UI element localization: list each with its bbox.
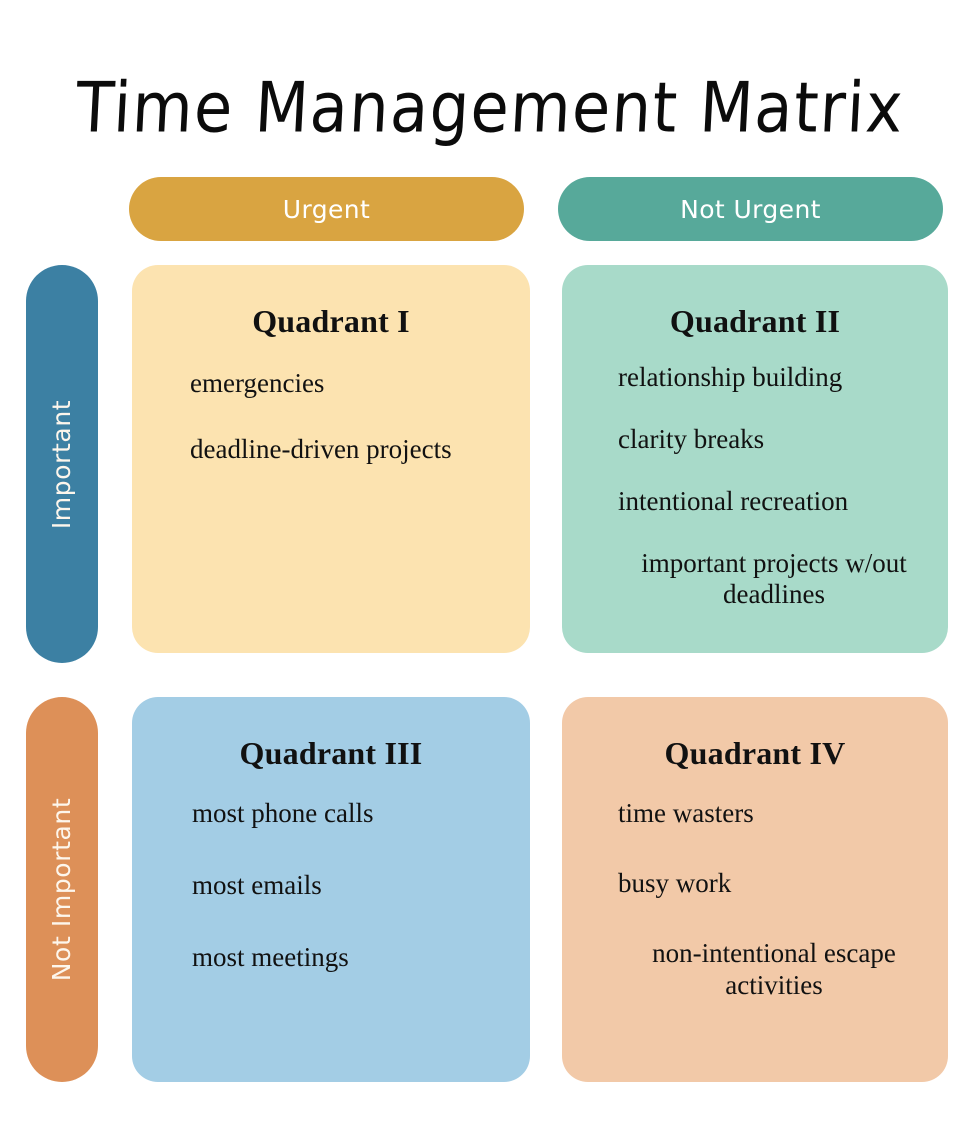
column-header-urgent-label: Urgent: [283, 195, 370, 224]
quadrant-3-item-list: most phone calls most emails most meetin…: [150, 772, 512, 974]
list-item: non-intentional escape activities: [618, 938, 930, 1002]
list-item: time wasters: [618, 798, 930, 830]
quadrant-1-card: Quadrant I emergencies deadline-driven p…: [132, 265, 530, 653]
list-item: busy work: [618, 868, 930, 900]
list-item: deadline-driven projects: [190, 434, 512, 466]
row-header-important: Important: [26, 265, 98, 663]
column-header-urgent: Urgent: [129, 177, 524, 241]
list-item: intentional recreation: [618, 486, 930, 518]
matrix-canvas: Time Management Matrix Urgent Not Urgent…: [0, 0, 980, 1136]
list-item: clarity breaks: [618, 424, 930, 456]
page-title: Time Management Matrix: [0, 63, 980, 153]
quadrant-4-item-list: time wasters busy work non-intentional e…: [580, 772, 930, 1001]
quadrant-3-card: Quadrant III most phone calls most email…: [132, 697, 530, 1082]
column-header-not-urgent-label: Not Urgent: [680, 195, 821, 224]
list-item: emergencies: [190, 368, 512, 400]
quadrant-2-card: Quadrant II relationship building clarit…: [562, 265, 948, 653]
list-item: most phone calls: [192, 798, 512, 830]
row-header-not-important: Not Important: [26, 697, 98, 1082]
list-item: important projects w/out deadlines: [618, 548, 930, 612]
quadrant-2-title: Quadrant II: [580, 265, 930, 340]
quadrant-1-title: Quadrant I: [150, 265, 512, 340]
list-item: most meetings: [192, 942, 512, 974]
quadrant-3-title: Quadrant III: [150, 697, 512, 772]
quadrant-2-item-list: relationship building clarity breaks int…: [580, 340, 930, 611]
list-item: relationship building: [618, 362, 930, 394]
row-header-not-important-label: Not Important: [48, 798, 77, 981]
column-header-not-urgent: Not Urgent: [558, 177, 943, 241]
list-item: most emails: [192, 870, 512, 902]
quadrant-4-card: Quadrant IV time wasters busy work non-i…: [562, 697, 948, 1082]
quadrant-4-title: Quadrant IV: [580, 697, 930, 772]
quadrant-1-item-list: emergencies deadline-driven projects: [150, 340, 512, 466]
row-header-important-label: Important: [48, 399, 77, 528]
